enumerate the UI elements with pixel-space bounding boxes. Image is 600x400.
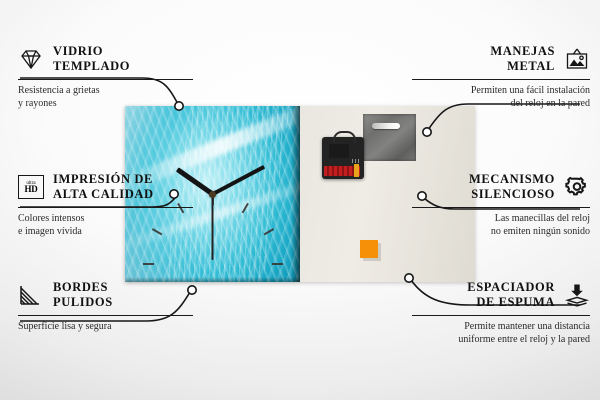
divider bbox=[18, 315, 193, 316]
feature-description: Superficie lisa y segura bbox=[18, 320, 193, 333]
feature-title: ESPACIADOR DE ESPUMA bbox=[467, 280, 555, 311]
feature-title: MECANISMO SILENCIOSO bbox=[469, 172, 555, 203]
feature-foam-spacer: ESPACIADOR DE ESPUMA Permite mantener un… bbox=[412, 280, 590, 346]
feature-silent-mechanism: MECANISMO SILENCIOSO Las manecillas del … bbox=[412, 172, 590, 238]
infographic-canvas: VIDRIO TEMPLADO Resistencia a grietas y … bbox=[0, 0, 600, 400]
feature-title: MANEJAS METAL bbox=[490, 44, 555, 75]
diamond-icon bbox=[18, 47, 44, 71]
feature-header: VIDRIO TEMPLADO bbox=[18, 44, 193, 75]
leader-dot-metal-handles bbox=[423, 128, 431, 136]
feature-title: IMPRESIÓN DE ALTA CALIDAD bbox=[53, 172, 154, 203]
feature-header: ESPACIADOR DE ESPUMA bbox=[412, 280, 590, 311]
divider bbox=[18, 79, 193, 80]
feature-description: Colores intensos e imagen vívida bbox=[18, 212, 193, 238]
feature-metal-handles: MANEJAS METAL Permiten una fácil instala… bbox=[412, 44, 590, 110]
feature-tempered-glass: VIDRIO TEMPLADO Resistencia a grietas y … bbox=[18, 44, 193, 110]
ultra-hd-icon: ultra HD bbox=[18, 175, 44, 199]
feature-header: MANEJAS METAL bbox=[412, 44, 590, 75]
picture-frame-hanging-icon bbox=[564, 47, 590, 71]
gear-icon bbox=[564, 175, 590, 199]
arrow-onto-layers-icon bbox=[564, 283, 590, 307]
divider bbox=[412, 315, 590, 316]
feature-description: Resistencia a grietas y rayones bbox=[18, 84, 193, 110]
feature-header: BORDES PULIDOS bbox=[18, 280, 193, 311]
feature-description: Permite mantener una distancia uniforme … bbox=[412, 320, 590, 346]
feature-title: BORDES PULIDOS bbox=[53, 280, 113, 311]
feature-description: Permiten una fácil instalación del reloj… bbox=[412, 84, 590, 110]
feature-polished-edges: BORDES PULIDOS Superficie lisa y segura bbox=[18, 280, 193, 333]
feature-header: MECANISMO SILENCIOSO bbox=[412, 172, 590, 203]
feature-description: Las manecillas del reloj no emiten ningú… bbox=[412, 212, 590, 238]
feature-high-quality-print: ultra HD IMPRESIÓN DE ALTA CALIDAD Color… bbox=[18, 172, 193, 238]
divider bbox=[412, 79, 590, 80]
divider bbox=[412, 207, 590, 208]
divider bbox=[18, 207, 193, 208]
feature-title: VIDRIO TEMPLADO bbox=[53, 44, 130, 75]
feature-header: ultra HD IMPRESIÓN DE ALTA CALIDAD bbox=[18, 172, 193, 203]
polished-edge-icon bbox=[18, 283, 44, 307]
